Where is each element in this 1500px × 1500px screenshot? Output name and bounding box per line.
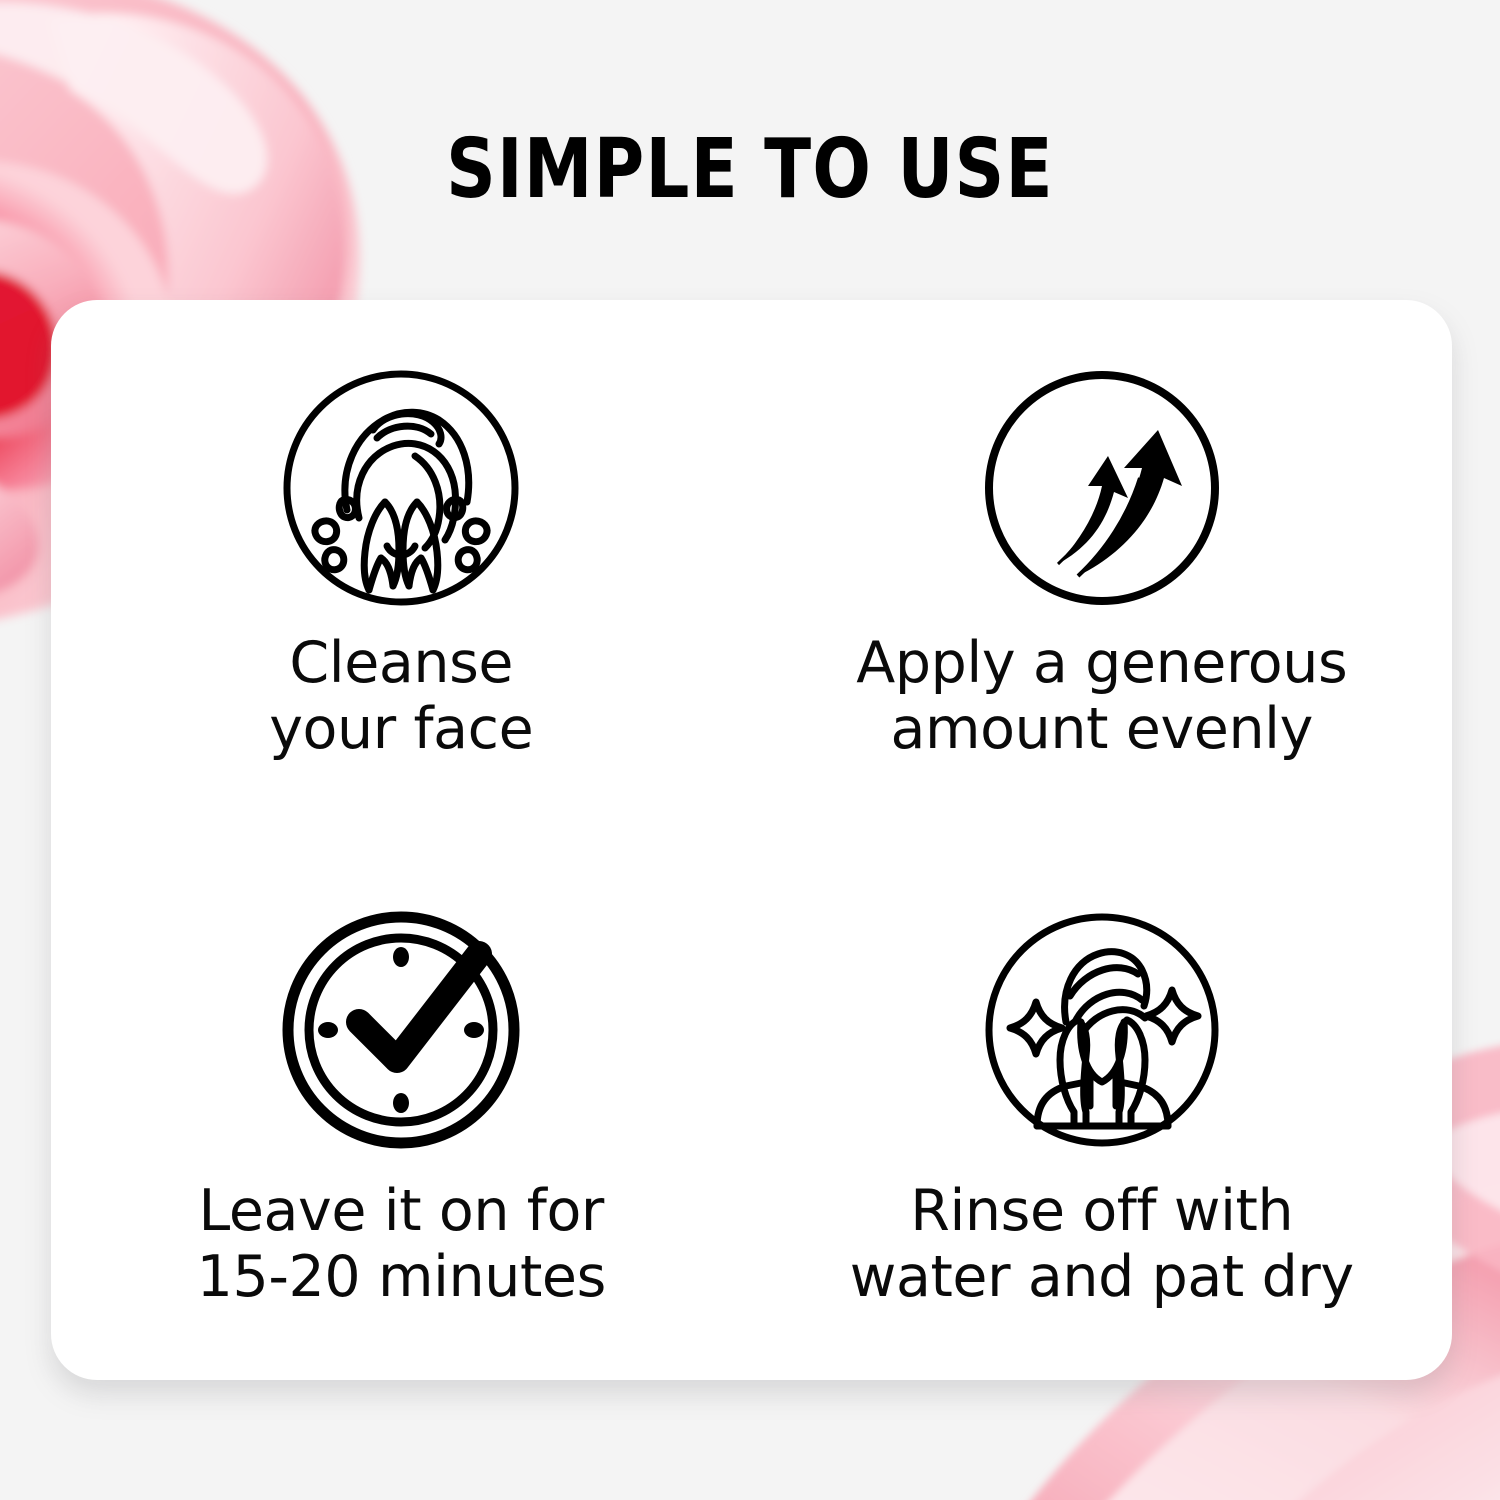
step-item-1: Cleanse your face [51,300,752,840]
glowing-face-icon [982,910,1222,1150]
step-item-3: Leave it on for 15-20 minutes [51,840,752,1380]
clock-checkmark-icon [281,910,521,1150]
step-caption-1: Cleanse your face [269,630,533,762]
step-caption-2: Apply a generous amount evenly [856,630,1347,762]
step-item-4: Rinse off with water and pat dry [752,840,1453,1380]
face-washing-icon [281,368,521,608]
upward-arrows-icon [982,368,1222,608]
step-item-2: Apply a generous amount evenly [752,300,1453,840]
page-title: SIMPLE TO USE [120,129,1380,211]
step-caption-4: Rinse off with water and pat dry [850,1178,1354,1310]
promo-infographic: SIMPLE TO USE [0,0,1500,1500]
step-caption-3: Leave it on for 15-20 minutes [197,1178,606,1310]
steps-card: Cleanse your face Apply a [51,300,1452,1380]
steps-grid: Cleanse your face Apply a [51,300,1452,1380]
